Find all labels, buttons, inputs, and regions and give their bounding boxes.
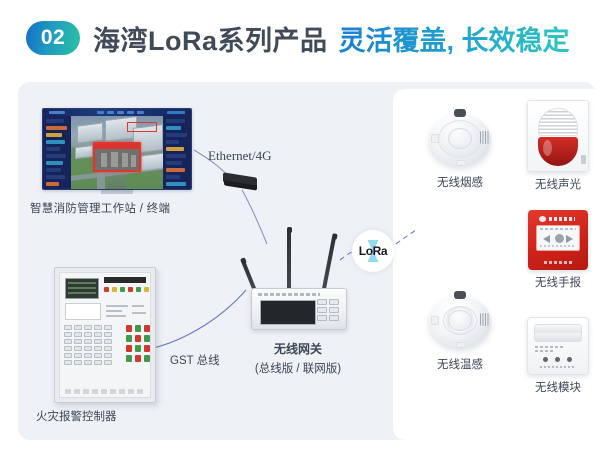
product-label: 无线烟感 <box>414 174 506 190</box>
product-label: 无线声光 <box>512 176 596 192</box>
product-label: 无线模块 <box>512 379 596 395</box>
smoke-detector-icon <box>429 108 491 170</box>
gateway-label-line1: 无线网关 <box>218 340 378 357</box>
lora-badge: LoRa <box>352 230 394 272</box>
product-wireless-module[interactable]: 无线模块 <box>512 317 596 395</box>
product-label: 无线温感 <box>414 356 506 372</box>
link-label-ethernet: Ethernet/4G <box>208 148 272 164</box>
page-title: 海湾LoRa系列产品 <box>93 19 328 58</box>
node-workstation[interactable] <box>42 108 192 194</box>
wireless-gateway-icon <box>251 288 347 330</box>
product-manual-call-point[interactable]: 无线手报 <box>512 210 596 290</box>
product-sounder-strobe[interactable]: 无线声光 <box>512 100 596 192</box>
antenna-icon <box>287 230 291 290</box>
page-subtitle: 灵活覆盖, 长效稳定 <box>339 19 570 58</box>
monitor-stand <box>101 190 133 194</box>
workstation-label: 智慧消防管理工作站 / 终端 <box>30 200 210 216</box>
fire-alarm-panel-label: 火灾报警控制器 <box>36 408 186 424</box>
wireless-module-icon <box>527 317 589 375</box>
diagram-stage: 智慧消防管理工作站 / 终端 Ethernet/4G <box>18 82 596 440</box>
sounder-strobe-icon <box>527 100 589 172</box>
network-router-icon[interactable] <box>223 175 259 191</box>
page-header: 02 海湾LoRa系列产品 灵活覆盖, 长效稳定 <box>0 0 610 76</box>
monitor-dashboard-icon <box>42 108 192 190</box>
gateway-label-line2: (总线版 / 联网版) <box>210 360 386 376</box>
lora-label: LoRa <box>359 244 387 258</box>
product-smoke-detector[interactable]: 无线烟感 <box>414 108 506 190</box>
camera-popup <box>93 142 141 172</box>
section-number-badge: 02 <box>26 21 80 55</box>
product-label: 无线手报 <box>512 274 596 290</box>
manual-call-point-icon <box>528 210 588 270</box>
heat-detector-icon <box>429 290 491 352</box>
node-fire-alarm-panel[interactable] <box>54 267 156 403</box>
fire-alarm-control-panel-icon <box>54 267 156 403</box>
product-heat-detector[interactable]: 无线温感 <box>414 290 506 372</box>
